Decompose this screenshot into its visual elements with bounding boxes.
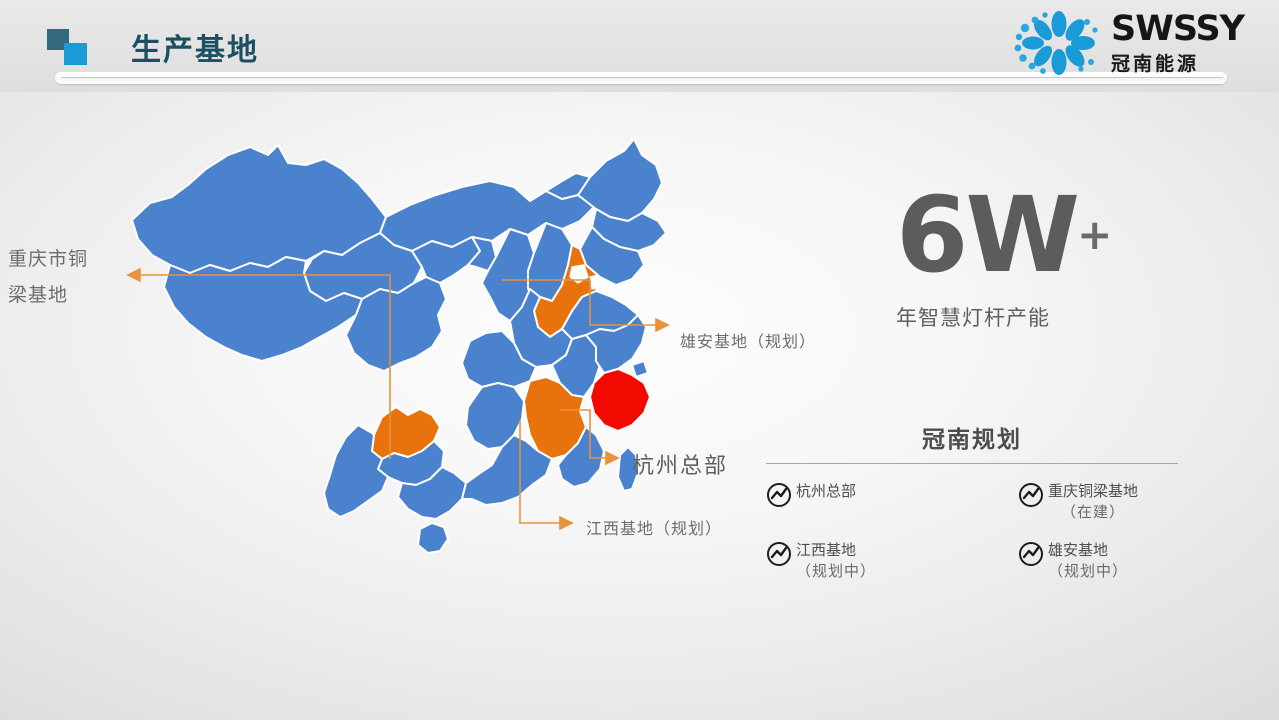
plan-item-status: （规划中） <box>1048 561 1128 582</box>
plan-item-status: （在建） <box>1048 502 1138 523</box>
map-label-xiongan: 雄安基地（规划） <box>680 328 816 352</box>
map-label-chongqing-line1: 重庆市铜 <box>8 241 88 277</box>
plan-item-chongqing[interactable]: 重庆铜梁基地 （在建） <box>1018 481 1178 523</box>
logo-wordmark: SWSSY <box>1111 11 1244 47</box>
logo-text-block: SWSSY 冠南能源 <box>1111 11 1244 76</box>
circle-wave-icon <box>766 541 792 567</box>
plan-item-grid: 杭州总部 重庆铜梁基地 （在建） 江西基地 （规划中） <box>766 481 1178 582</box>
arrow-hangzhou <box>606 452 618 464</box>
logo-subtitle: 冠南能源 <box>1111 49 1244 76</box>
map-label-hangzhou: 杭州总部 <box>632 448 728 480</box>
arrow-xiongan <box>656 319 668 331</box>
plan-item-name: 雄安基地 <box>1048 541 1108 559</box>
plan-item-name: 重庆铜梁基地 <box>1048 482 1138 500</box>
plan-item-name: 杭州总部 <box>796 482 856 500</box>
map-label-chongqing: 重庆市铜 梁基地 <box>8 241 88 313</box>
plan-item-jiangxi[interactable]: 江西基地 （规划中） <box>766 540 1018 582</box>
company-logo: SWSSY 冠南能源 <box>1011 8 1263 78</box>
plan-item-xiongan[interactable]: 雄安基地 （规划中） <box>1018 540 1178 582</box>
decor-square-light <box>64 43 87 65</box>
circle-wave-icon <box>1018 482 1044 508</box>
connector-chongqing <box>128 275 390 459</box>
map-label-chongqing-line2: 梁基地 <box>8 277 88 313</box>
capacity-value: 6W <box>896 174 1077 296</box>
plan-title: 冠南规划 <box>766 420 1178 454</box>
slide-header: 生产基地 SWSSY 冠 <box>0 0 1279 95</box>
arrow-jiangxi <box>560 517 572 529</box>
plan-item-label: 杭州总部 <box>796 481 856 502</box>
circle-wave-icon <box>766 482 792 508</box>
connector-hangzhou <box>560 410 618 458</box>
arrow-chongqing <box>128 269 140 281</box>
connector-jiangxi <box>520 420 572 523</box>
capacity-stat: 6W+ 年智慧灯杆产能 <box>896 185 1226 332</box>
capacity-plus-sign: + <box>1077 210 1112 259</box>
plan-item-label: 江西基地 （规划中） <box>796 540 876 582</box>
plan-divider <box>766 463 1178 464</box>
plan-item-name: 江西基地 <box>796 541 856 559</box>
plan-item-label: 雄安基地 （规划中） <box>1048 540 1128 582</box>
map-label-jiangxi: 江西基地（规划） <box>586 515 722 539</box>
connector-xiongan <box>502 280 668 325</box>
circle-wave-icon <box>1018 541 1044 567</box>
plan-item-label: 重庆铜梁基地 （在建） <box>1048 481 1138 523</box>
plan-item-hangzhou[interactable]: 杭州总部 <box>766 481 1018 523</box>
plan-item-status: （规划中） <box>796 561 876 582</box>
capacity-caption: 年智慧灯杆产能 <box>896 302 1226 332</box>
swssy-flower-logo-icon <box>1011 10 1107 76</box>
plan-panel: 冠南规划 杭州总部 重庆铜梁基地 （在建） <box>766 420 1178 582</box>
capacity-number: 6W+ <box>896 185 1226 285</box>
page-title: 生产基地 <box>131 25 259 69</box>
